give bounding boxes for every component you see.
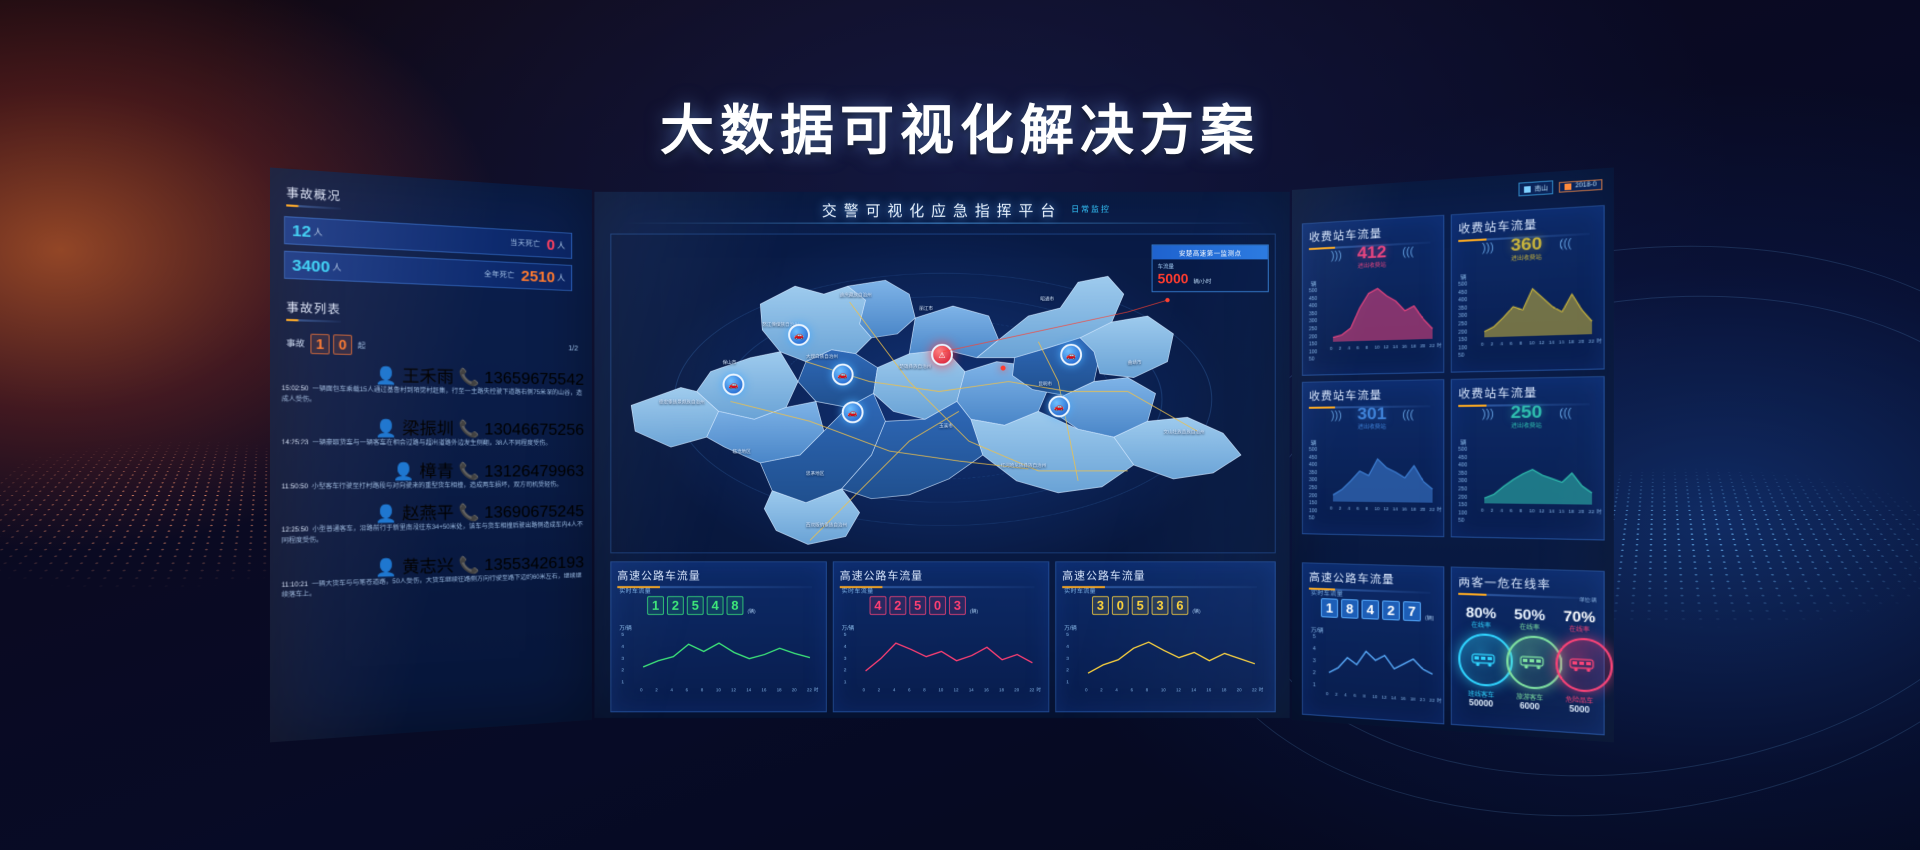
map-tooltip-value: 5000 bbox=[1158, 270, 1189, 286]
x-tick: 20 bbox=[1014, 687, 1019, 692]
x-tick: 2 bbox=[1339, 506, 1341, 511]
x-tick: 14 bbox=[1391, 695, 1396, 700]
marker-5[interactable]: 🚗 bbox=[1060, 344, 1082, 366]
wave-left-icon: ))) bbox=[1331, 249, 1342, 262]
x-tick: 20 bbox=[1420, 697, 1425, 702]
bus-icon bbox=[1458, 632, 1513, 687]
highway-panel-title: 高速公路车流量 bbox=[840, 567, 1035, 588]
accident-item-phone: 13553426193 bbox=[484, 554, 584, 574]
x-tick: 8 bbox=[1146, 687, 1148, 692]
y-tick: 500 bbox=[1309, 288, 1317, 294]
x-tick: 8 bbox=[1366, 506, 1369, 511]
accident-item-name: 黄志兴 bbox=[402, 557, 454, 576]
x-tick: 4 bbox=[670, 687, 672, 692]
toll-y-unit: 辆 bbox=[1460, 438, 1466, 446]
digit: 0 bbox=[1112, 596, 1129, 615]
digit: 4 bbox=[870, 596, 887, 615]
dashboard-header: 交警可视化应急指挥平台 日常监控 bbox=[594, 192, 1289, 228]
y-tick: 4 bbox=[844, 644, 847, 650]
y-tick: 4 bbox=[621, 644, 624, 650]
y-tick: 5 bbox=[1066, 632, 1069, 638]
y-tick: 500 bbox=[1309, 447, 1317, 453]
accident-item-contact: 👤 樟青 📞 13126479963 bbox=[282, 457, 584, 483]
x-tick: 22 bbox=[1429, 343, 1434, 348]
wave-left-icon: ))) bbox=[1331, 409, 1342, 421]
x-tick: 4 bbox=[1500, 508, 1503, 513]
accident-item-time: 14:25:23 bbox=[282, 440, 309, 447]
x-axis-unit: 时 bbox=[1259, 687, 1263, 693]
map-tooltip-label: 车流量 bbox=[1158, 262, 1263, 270]
x-tick: 18 bbox=[1569, 509, 1575, 514]
phone-icon: 📞 bbox=[459, 369, 480, 387]
accident-item-text: 小型普通客车，沿路前行于新里南段往东34+50米处，该车与货车相撞后驶出路侧造成… bbox=[282, 523, 583, 545]
x-tick: 4 bbox=[1344, 692, 1346, 697]
x-tick: 20 bbox=[1579, 339, 1585, 345]
y-tick: 3 bbox=[1313, 658, 1316, 664]
online-rate-pct-label: 在线率 bbox=[1458, 619, 1504, 630]
highway-digit-block: 12548(辆) bbox=[647, 596, 756, 615]
toll-station-panel[interactable]: 收费站车流量)))(((360进出收费站辆5004504003503002502… bbox=[1451, 205, 1605, 373]
marker-4[interactable]: 🚗 bbox=[842, 401, 864, 423]
x-tick: 16 bbox=[1559, 509, 1565, 514]
accident-item-time: 12:25:50 bbox=[282, 527, 309, 534]
y-tick: 1 bbox=[844, 679, 847, 685]
map-region-label: 迪庆藏族自治州 bbox=[840, 292, 872, 298]
y-tick: 300 bbox=[1458, 313, 1467, 320]
x-tick: 6 bbox=[1357, 345, 1360, 350]
y-tick: 150 bbox=[1458, 502, 1467, 508]
wall-segment-center: 交警可视化应急指挥平台 日常监控 bbox=[594, 192, 1289, 718]
marker-2[interactable]: 🚗 bbox=[832, 364, 854, 386]
map-region-label: 楚雄彝族自治州 bbox=[899, 364, 931, 370]
y-tick: 50 bbox=[1458, 353, 1464, 359]
x-tick: 12 bbox=[1539, 340, 1544, 345]
x-tick: 22 bbox=[1429, 507, 1434, 512]
highway-flow-panel[interactable]: 高速公路车流量实时车流量12548(辆)万/辆54321024681012141… bbox=[610, 561, 827, 712]
online-rate-pct-label: 在线率 bbox=[1506, 621, 1553, 633]
map-region-label: 玉溪市 bbox=[939, 423, 953, 429]
header-controls[interactable]: 南山 2018-0 bbox=[1519, 177, 1603, 196]
x-tick: 16 bbox=[761, 687, 766, 692]
x-tick: 4 bbox=[1348, 345, 1351, 350]
accident-item-text: 一辆豪取货车与一辆客车在相会过路与超出道路外边发生侧翻，38人不同程度受伤。 bbox=[312, 440, 551, 447]
online-rate-value: 5000 bbox=[1555, 703, 1603, 716]
x-tick: 22 bbox=[1589, 509, 1595, 514]
x-tick: 12 bbox=[954, 687, 959, 692]
highway-flow-panel[interactable]: 高速公路车流量实时车流量30536(辆)万/辆54321024681012141… bbox=[1055, 561, 1275, 712]
y-tick: 4 bbox=[1066, 644, 1069, 650]
toll-value-block: )))(((301进出收费站 bbox=[1303, 403, 1443, 434]
highway-sub-label: 实时车流量 bbox=[842, 586, 874, 595]
accident-list-item[interactable]: 👤 黄志兴 📞 1355342619311:10:21 一辆大货车与与笔苍道路，… bbox=[282, 548, 584, 602]
hazard-truck-icon-glyph bbox=[1569, 657, 1599, 674]
toll-station-panel[interactable]: 收费站车流量)))(((301进出收费站辆5004504003503002502… bbox=[1302, 379, 1444, 537]
x-tick: 2 bbox=[1100, 687, 1102, 692]
x-tick: 16 bbox=[1401, 696, 1406, 701]
x-tick: 2 bbox=[1491, 508, 1494, 513]
accident-list-item[interactable]: 👤 梁振圳 📞 1304667525614:25:23 一辆豪取货车与一辆客车在… bbox=[282, 413, 584, 450]
accident-list-items[interactable]: 👤 王禾雨 📞 1365967554215:02:50 一辆面包车乘载15人通过… bbox=[282, 359, 584, 735]
y-tick: 1 bbox=[1313, 682, 1316, 688]
y-tick: 50 bbox=[1309, 516, 1315, 522]
y-tick: 1 bbox=[1066, 679, 1069, 685]
y-tick: 200 bbox=[1458, 494, 1467, 500]
digit: 5 bbox=[909, 596, 926, 615]
map-region-label: 怒江傈僳族自治州 bbox=[762, 322, 799, 328]
y-tick: 150 bbox=[1309, 341, 1317, 347]
map-region-label: 红河哈尼族彝族自治州 bbox=[1001, 463, 1047, 469]
accident-item-body: 15:02:50 一辆面包车乘载15人通过基鲁村到陌觉村赶集，行至一主路失控驶下… bbox=[282, 385, 584, 409]
wave-right-icon: ((( bbox=[1559, 407, 1572, 420]
y-tick: 250 bbox=[1458, 321, 1467, 328]
x-tick: 0 bbox=[1481, 507, 1484, 512]
highway-line-chart bbox=[1329, 635, 1433, 694]
accident-item-body: 14:25:23 一辆豪取货车与一辆客车在相会过路与超出道路外边发生侧翻，38人… bbox=[282, 439, 584, 450]
highway-panel-title: 高速公路车流量 bbox=[1062, 567, 1257, 588]
y-tick: 250 bbox=[1458, 486, 1467, 492]
accident-item-contact: 👤 梁振圳 📞 13046675256 bbox=[282, 413, 584, 440]
x-axis-unit: 时 bbox=[1437, 507, 1442, 513]
highway-y-unit: 万/辆 bbox=[842, 624, 854, 632]
x-tick: 8 bbox=[1519, 340, 1522, 345]
x-tick: 12 bbox=[731, 687, 736, 692]
y-tick: 250 bbox=[1309, 326, 1317, 332]
x-tick: 20 bbox=[1420, 507, 1425, 512]
x-tick: 20 bbox=[792, 687, 797, 692]
x-tick: 14 bbox=[1549, 508, 1555, 513]
area-fill bbox=[1333, 286, 1433, 342]
person-icon: 👤 bbox=[375, 506, 397, 524]
y-tick: 5 bbox=[621, 632, 624, 638]
x-tick: 16 bbox=[984, 687, 989, 692]
x-tick: 4 bbox=[893, 687, 895, 692]
wall-segment-right: 南山 2018-0 收费站车流量)))(((412进出收费站辆500450400… bbox=[1292, 167, 1614, 742]
highway-digit-block: 42503(辆) bbox=[870, 596, 979, 615]
x-tick: 10 bbox=[1529, 508, 1534, 513]
x-tick: 10 bbox=[1372, 694, 1377, 699]
x-tick: 0 bbox=[1481, 342, 1484, 347]
digit: 6 bbox=[1171, 596, 1188, 615]
wave-left-icon: ))) bbox=[1482, 408, 1494, 421]
online-rate-value: 50000 bbox=[1458, 697, 1504, 709]
accident-item-name: 王禾雨 bbox=[402, 368, 454, 387]
y-tick: 200 bbox=[1309, 493, 1317, 499]
x-tick: 12 bbox=[1384, 344, 1389, 349]
area-fill bbox=[1333, 459, 1433, 503]
accident-list-item[interactable]: 👤 赵燕平 📞 1369067524512:25:50 小型普通客车，沿路前行于… bbox=[282, 497, 584, 547]
marker-3[interactable]: 🚗 bbox=[723, 374, 745, 396]
x-tick: 10 bbox=[1375, 345, 1380, 350]
y-tick: 500 bbox=[1458, 281, 1467, 288]
y-tick: 2 bbox=[1066, 668, 1069, 674]
map-alert-link bbox=[611, 235, 1274, 553]
map-region-label: 昆明市 bbox=[1038, 382, 1052, 388]
map-region-label: 保山市 bbox=[723, 360, 737, 366]
highway-line-chart bbox=[866, 632, 1033, 684]
person-icon: 👤 bbox=[393, 463, 415, 481]
y-tick: 450 bbox=[1458, 289, 1467, 296]
highway-sub-label: 实时车流量 bbox=[1064, 586, 1096, 595]
x-tick: 18 bbox=[999, 687, 1004, 692]
location-icon bbox=[1524, 186, 1531, 193]
online-rate-pct-label: 在线率 bbox=[1555, 623, 1603, 635]
toll-value-block: )))(((412进出收费站 bbox=[1303, 239, 1443, 276]
x-tick: 0 bbox=[640, 687, 642, 692]
x-tick: 4 bbox=[1348, 506, 1351, 511]
y-tick: 500 bbox=[1458, 447, 1467, 453]
highway-digit-block: 18427(辆) bbox=[1321, 598, 1434, 622]
x-tick: 16 bbox=[1402, 506, 1407, 511]
toll-value-label: 进出收费站 bbox=[1357, 260, 1386, 270]
x-tick: 12 bbox=[1539, 508, 1544, 513]
y-tick: 100 bbox=[1309, 349, 1317, 355]
x-tick: 2 bbox=[1491, 341, 1494, 346]
phone-icon: 📞 bbox=[459, 556, 480, 574]
x-tick: 0 bbox=[1085, 687, 1087, 692]
y-tick: 3 bbox=[621, 656, 624, 662]
x-tick: 8 bbox=[1366, 345, 1369, 350]
map-tooltip-unit: 辆/小时 bbox=[1193, 277, 1211, 285]
x-tick: 14 bbox=[1191, 687, 1196, 692]
x-tick: 18 bbox=[1411, 343, 1416, 348]
x-axis-unit: 时 bbox=[1597, 338, 1602, 345]
map-region-label: 西双版纳傣族自治州 bbox=[806, 523, 847, 529]
x-tick: 0 bbox=[1326, 691, 1328, 696]
y-tick: 100 bbox=[1458, 345, 1467, 352]
map-ring-mid bbox=[724, 297, 1163, 503]
online-rate-item[interactable]: 70%在线率危险品车5000 bbox=[1555, 607, 1603, 716]
y-tick: 5 bbox=[1313, 634, 1316, 640]
x-tick: 0 bbox=[1330, 346, 1332, 351]
accident-list-pager[interactable]: 1/2 bbox=[568, 345, 578, 352]
coach-icon bbox=[1506, 635, 1562, 691]
x-tick: 22 bbox=[807, 687, 812, 692]
accident-item-phone: 13046675256 bbox=[484, 421, 584, 439]
map-region-label: 德宏傣族景颇族自治州 bbox=[659, 399, 705, 405]
digit: 2 bbox=[1382, 600, 1400, 620]
y-tick: 350 bbox=[1309, 470, 1317, 476]
x-tick: 12 bbox=[1384, 506, 1389, 511]
y-tick: 250 bbox=[1309, 485, 1317, 491]
calendar-icon bbox=[1565, 183, 1572, 190]
x-tick: 2 bbox=[1339, 346, 1341, 351]
phone-icon: 📞 bbox=[459, 421, 480, 439]
digit: 3 bbox=[1092, 596, 1109, 615]
y-tick: 350 bbox=[1458, 305, 1467, 312]
series-line bbox=[1088, 642, 1255, 673]
y-tick: 400 bbox=[1458, 463, 1467, 469]
accident-item-name: 樟青 bbox=[420, 463, 454, 481]
y-tick: 200 bbox=[1458, 329, 1467, 336]
marker-6[interactable]: 🚗 bbox=[1048, 395, 1070, 417]
x-tick: 12 bbox=[1176, 687, 1181, 692]
x-tick: 8 bbox=[1519, 508, 1522, 513]
province-map[interactable]: 迪庆藏族自治州丽江市怒江傈僳族自治州大理白族自治州楚雄彝族自治州昭通市保山市德宏… bbox=[610, 234, 1275, 554]
accident-item-time: 15:02:50 bbox=[282, 386, 309, 393]
x-tick: 2 bbox=[655, 687, 657, 692]
toll-value-block: )))(((250进出收费站 bbox=[1452, 401, 1604, 433]
x-tick: 18 bbox=[1410, 696, 1415, 701]
toll-y-unit: 辆 bbox=[1311, 280, 1317, 288]
map-region-label: 思茅地区 bbox=[806, 471, 824, 477]
online-rate-item[interactable]: 50%在线率旅游客车6000 bbox=[1506, 605, 1553, 713]
y-tick: 450 bbox=[1309, 455, 1317, 461]
series-line bbox=[1329, 649, 1433, 678]
x-tick: 16 bbox=[1206, 687, 1211, 692]
map-region-label: 临沧地区 bbox=[732, 449, 750, 455]
marker-alert[interactable]: ⚠ bbox=[931, 344, 953, 366]
page-title: 大数据可视化解决方案 bbox=[0, 86, 1920, 165]
y-tick: 5 bbox=[844, 632, 847, 638]
x-tick: 2 bbox=[1335, 692, 1337, 697]
phone-icon: 📞 bbox=[459, 463, 480, 481]
x-tick: 2 bbox=[878, 687, 880, 692]
x-tick: 14 bbox=[1549, 340, 1555, 345]
wave-right-icon: ((( bbox=[1402, 409, 1414, 421]
accident-overview-title: 事故概况 bbox=[286, 184, 341, 210]
digit: 3 bbox=[949, 596, 966, 615]
x-tick: 8 bbox=[1363, 693, 1366, 698]
x-tick: 18 bbox=[1569, 339, 1575, 345]
x-tick: 22 bbox=[1429, 697, 1434, 703]
map-region-label: 昭通市 bbox=[1040, 296, 1054, 302]
x-tick: 18 bbox=[1411, 507, 1416, 512]
highway-flow-panel[interactable]: 高速公路车流量实时车流量42503(辆)万/辆54321024681012141… bbox=[833, 561, 1050, 712]
map-ring-outer bbox=[674, 273, 1212, 526]
accident-list-item[interactable]: 👤 王禾雨 📞 1365967554215:02:50 一辆面包车乘载15人通过… bbox=[282, 359, 584, 409]
digit: 3 bbox=[1152, 596, 1169, 615]
y-tick: 300 bbox=[1458, 478, 1467, 484]
map-tooltip-title: 安楚高速第一监测点 bbox=[1153, 245, 1268, 259]
location-chip[interactable]: 南山 bbox=[1519, 180, 1554, 196]
x-tick: 4 bbox=[1115, 687, 1117, 692]
accident-item-phone: 13126479963 bbox=[484, 463, 584, 481]
online-rate-value: 6000 bbox=[1506, 700, 1553, 712]
x-tick: 22 bbox=[1029, 687, 1034, 692]
y-tick: 3 bbox=[1066, 656, 1069, 662]
digit: 0 bbox=[929, 596, 946, 615]
x-tick: 20 bbox=[1420, 343, 1425, 348]
toll-area-chart bbox=[1333, 283, 1433, 342]
x-tick: 6 bbox=[1510, 508, 1513, 513]
accident-list-title: 事故列表 bbox=[286, 298, 341, 322]
y-tick: 2 bbox=[621, 668, 624, 674]
digit: 0 bbox=[333, 334, 352, 355]
online-rate-item[interactable]: 80%在线率班线客车50000 bbox=[1458, 603, 1504, 709]
y-tick: 450 bbox=[1458, 455, 1467, 461]
person-icon: 👤 bbox=[375, 367, 397, 385]
wall-segment-left: 事故概况 12 人 当天死亡 0 人 3400 人 全年死亡 2510 人 事故… bbox=[270, 167, 592, 742]
dashboard-mode-tag[interactable]: 日常监控 bbox=[1071, 204, 1111, 215]
y-tick: 50 bbox=[1458, 518, 1464, 524]
highway-line-chart bbox=[1088, 632, 1255, 684]
highway-sub-label: 实时车流量 bbox=[619, 586, 651, 595]
y-tick: 300 bbox=[1309, 318, 1317, 324]
digit: 1 bbox=[310, 334, 329, 355]
y-tick: 50 bbox=[1309, 357, 1315, 363]
digit: 8 bbox=[726, 596, 743, 615]
accident-list-item[interactable]: 👤 樟青 📞 1312647996311:50:50 小型客车行驶至打村路段与对… bbox=[282, 457, 584, 493]
digit: 2 bbox=[667, 596, 684, 615]
marker-1[interactable]: 🚗 bbox=[788, 324, 810, 346]
map-region-label: 大理白族自治州 bbox=[806, 354, 838, 360]
accident-count: 事故 10 起 bbox=[286, 333, 365, 355]
x-tick: 14 bbox=[1393, 344, 1398, 349]
digit: 5 bbox=[1132, 596, 1149, 615]
x-tick: 20 bbox=[1237, 687, 1242, 692]
x-tick: 6 bbox=[686, 687, 688, 692]
y-tick: 2 bbox=[844, 668, 847, 674]
y-tick: 200 bbox=[1309, 334, 1317, 340]
coach-icon-glyph bbox=[1520, 654, 1549, 670]
hazard-truck-icon bbox=[1555, 637, 1612, 694]
y-tick: 400 bbox=[1458, 297, 1467, 304]
highway-digit-unit: (辆) bbox=[747, 608, 755, 615]
toll-station-panel[interactable]: 收费站车流量)))(((250进出收费站辆5004504003503002502… bbox=[1451, 376, 1605, 541]
toll-area-chart bbox=[1333, 447, 1433, 503]
digit: 7 bbox=[1403, 601, 1421, 621]
wave-left-icon: ))) bbox=[1482, 241, 1494, 254]
x-tick: 8 bbox=[701, 687, 703, 692]
dashboard-title: 交警可视化应急指挥平台 bbox=[822, 200, 1062, 221]
accident-item-text: 一辆面包车乘载15人通过基鲁村到陌觉村赶集，行至一主路失控驶下道路右侧75米深的… bbox=[282, 386, 583, 403]
highway-digit-block: 30536(辆) bbox=[1092, 596, 1201, 615]
series-line bbox=[866, 643, 1033, 671]
highway-panel-title: 高速公路车流量 bbox=[617, 567, 812, 588]
y-tick: 3 bbox=[844, 656, 847, 662]
online-rate-title: 两客一危在线率 bbox=[1458, 573, 1589, 600]
toll-station-panel[interactable]: 收费站车流量)))(((412进出收费站辆5004504003503002502… bbox=[1302, 215, 1444, 376]
x-axis-unit: 时 bbox=[1597, 509, 1602, 516]
x-tick: 16 bbox=[1402, 344, 1407, 349]
x-tick: 22 bbox=[1252, 687, 1257, 692]
y-tick: 100 bbox=[1458, 510, 1467, 516]
toll-value: 301 bbox=[1357, 404, 1386, 424]
x-axis-unit: 时 bbox=[1036, 687, 1040, 693]
series-line bbox=[643, 643, 810, 667]
digit: 1 bbox=[647, 596, 664, 615]
map-shape bbox=[611, 235, 1274, 553]
accident-item-name: 梁振圳 bbox=[402, 421, 454, 439]
x-axis-unit: 时 bbox=[1437, 343, 1442, 349]
map-capital-dot bbox=[1001, 366, 1006, 371]
toll-area-chart bbox=[1484, 276, 1592, 337]
x-tick: 6 bbox=[1354, 693, 1357, 698]
accident-item-text: 小型客车行驶至打村路段与对向驶来的重型货车相撞，造成两车损坏，双方司机受轻伤。 bbox=[312, 482, 563, 490]
y-tick: 1 bbox=[621, 679, 624, 685]
accident-item-body: 11:50:50 小型客车行驶至打村路段与对向驶来的重型货车相撞，造成两车损坏，… bbox=[282, 481, 584, 493]
online-rate-unit-note: 单位:辆 bbox=[1579, 597, 1596, 604]
x-tick: 14 bbox=[746, 687, 751, 692]
map-region-label: 丽江市 bbox=[919, 306, 933, 312]
x-tick: 10 bbox=[716, 687, 721, 692]
accident-item-phone: 13659675542 bbox=[484, 370, 584, 389]
digit: 4 bbox=[1362, 600, 1380, 620]
y-tick: 350 bbox=[1309, 311, 1317, 317]
toll-value: 250 bbox=[1510, 402, 1542, 423]
x-tick: 6 bbox=[1510, 341, 1513, 346]
map-ring-inner bbox=[773, 320, 1113, 479]
x-tick: 6 bbox=[1131, 687, 1133, 692]
x-tick: 6 bbox=[1357, 506, 1360, 511]
y-tick: 2 bbox=[1313, 670, 1316, 676]
highway-flow-panel[interactable]: 高速公路车流量实时车流量18427(辆)万/辆54321024681012141… bbox=[1302, 562, 1444, 724]
x-tick: 22 bbox=[1589, 338, 1595, 344]
toll-area-chart bbox=[1484, 446, 1592, 504]
date-chip[interactable]: 2018-0 bbox=[1559, 179, 1602, 193]
accident-count-digits: 10 bbox=[310, 334, 352, 355]
online-rate-panel[interactable]: 两客一危在线率单位:辆80%在线率班线客车5000050%在线率旅游客车6000… bbox=[1451, 566, 1605, 735]
